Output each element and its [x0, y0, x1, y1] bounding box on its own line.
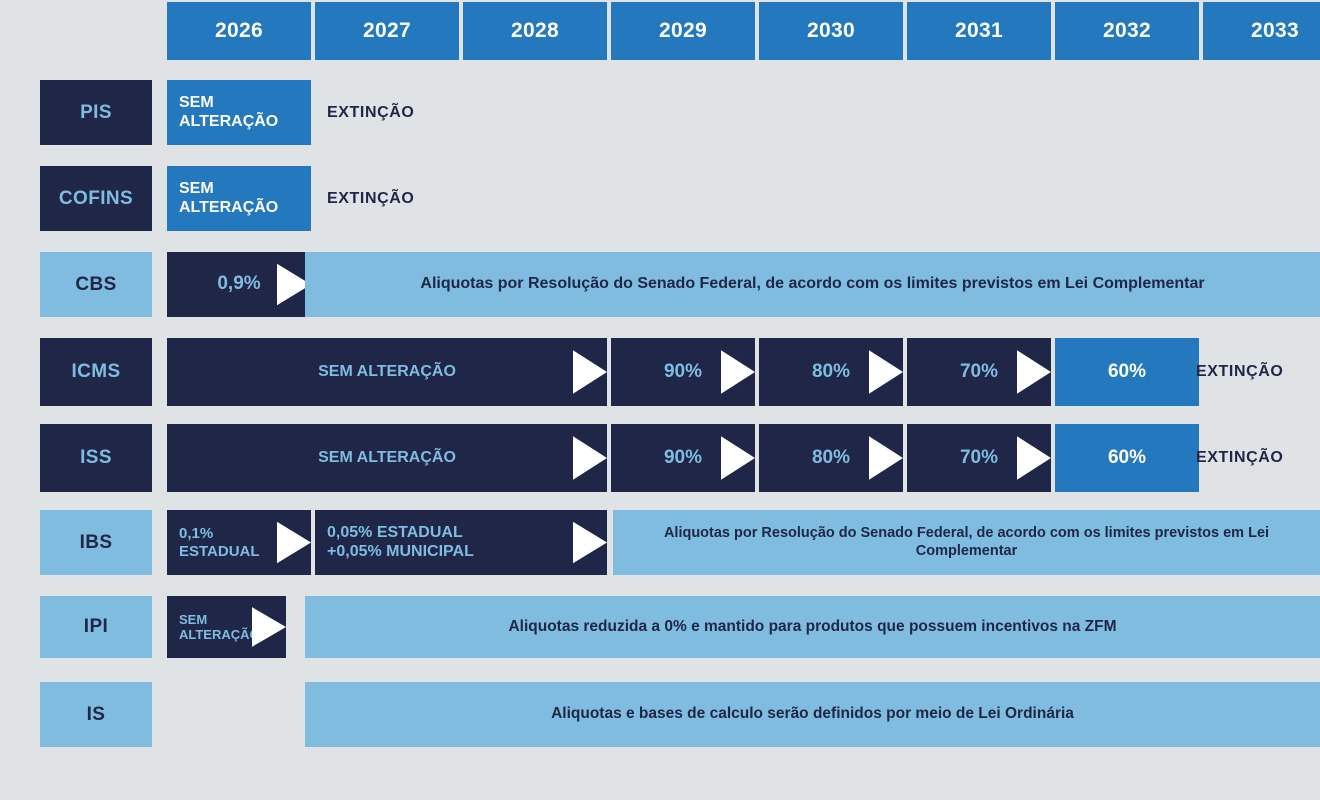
year-label: 2030: [807, 19, 855, 43]
cell-icms-1[interactable]: SEM ALTERAÇÃO: [167, 338, 607, 406]
arrow-right-icon: [721, 424, 755, 492]
cell-text: Aliquotas por Resolução do Senado Federa…: [420, 275, 1204, 294]
cell-iss-1[interactable]: SEM ALTERAÇÃO: [167, 424, 607, 492]
year-column-2030[interactable]: 2030: [759, 2, 903, 60]
cell-text: SEM ALTERAÇÃO: [179, 94, 278, 132]
year-column-2028[interactable]: 2028: [463, 2, 607, 60]
row-label-text: PIS: [80, 102, 112, 124]
year-label: 2033: [1251, 19, 1299, 43]
cell-text: SEM ALTERAÇÃO: [179, 612, 260, 643]
cell-ipi-1[interactable]: SEM ALTERAÇÃO: [167, 596, 286, 658]
row-label-cofins[interactable]: COFINS: [40, 166, 152, 231]
arrow-right-icon: [277, 510, 311, 575]
cell-icms-5[interactable]: 60%: [1055, 338, 1199, 406]
cell-icms-4[interactable]: 70%: [907, 338, 1051, 406]
row-label-text: IS: [87, 704, 106, 726]
cell-text: 0,1% ESTADUAL: [179, 525, 260, 560]
cell-cbs-1[interactable]: 0,9%: [167, 252, 311, 317]
status-text: EXTINÇÃO: [1196, 363, 1283, 381]
year-column-2031[interactable]: 2031: [907, 2, 1051, 60]
row-label-text: COFINS: [59, 188, 133, 210]
arrow-right-icon: [573, 510, 607, 575]
cell-iss-4[interactable]: 70%: [907, 424, 1051, 492]
cell-ibs-1[interactable]: 0,1% ESTADUAL: [167, 510, 311, 575]
cell-text: 70%: [960, 361, 998, 383]
row-label-text: IBS: [80, 532, 113, 554]
row-label-cbs[interactable]: CBS: [40, 252, 152, 317]
year-column-2026[interactable]: 2026: [167, 2, 311, 60]
cell-text: 80%: [812, 361, 850, 383]
cell-cofins-1[interactable]: SEM ALTERAÇÃO: [167, 166, 311, 231]
row-label-icms[interactable]: ICMS: [40, 338, 152, 406]
arrow-right-icon: [573, 424, 607, 492]
year-column-2033[interactable]: 2033: [1203, 2, 1320, 60]
cell-text: 70%: [960, 447, 998, 469]
cell-text: 80%: [812, 447, 850, 469]
status-text: EXTINÇÃO: [327, 190, 414, 208]
cell-text: SEM ALTERAÇÃO: [318, 363, 456, 382]
year-label: 2031: [955, 19, 1003, 43]
cell-text: 60%: [1108, 361, 1146, 383]
cell-text: Aliquotas por Resolução do Senado Federa…: [643, 525, 1290, 559]
extincao-label-cofins: EXTINÇÃO: [327, 166, 414, 231]
year-label: 2027: [363, 19, 411, 43]
cell-ibs-2[interactable]: 0,05% ESTADUAL +0,05% MUNICIPAL: [315, 510, 607, 575]
extincao-label-iss: EXTINÇÃO: [1196, 424, 1283, 492]
cell-iss-2[interactable]: 90%: [611, 424, 755, 492]
year-column-2027[interactable]: 2027: [315, 2, 459, 60]
row-label-ipi[interactable]: IPI: [40, 596, 152, 658]
cell-text: Aliquotas reduzida a 0% e mantido para p…: [508, 618, 1116, 636]
cell-ibs-3[interactable]: Aliquotas por Resolução do Senado Federa…: [613, 510, 1320, 575]
year-label: 2032: [1103, 19, 1151, 43]
cell-icms-2[interactable]: 90%: [611, 338, 755, 406]
row-label-text: IPI: [84, 616, 108, 638]
arrow-right-icon: [573, 338, 607, 406]
year-column-2032[interactable]: 2032: [1055, 2, 1199, 60]
timeline-board: 20262027202820292030203120322033 PISSEM …: [0, 0, 1320, 800]
arrow-right-icon: [1017, 424, 1051, 492]
year-column-2029[interactable]: 2029: [611, 2, 755, 60]
row-label-iss[interactable]: ISS: [40, 424, 152, 492]
arrow-right-icon: [721, 338, 755, 406]
row-label-is[interactable]: IS: [40, 682, 152, 747]
cell-text: 90%: [664, 447, 702, 469]
cell-text: SEM ALTERAÇÃO: [318, 449, 456, 468]
extincao-label-icms: EXTINÇÃO: [1196, 338, 1283, 406]
status-text: EXTINÇÃO: [1196, 449, 1283, 467]
row-label-text: ICMS: [71, 361, 120, 383]
cell-iss-3[interactable]: 80%: [759, 424, 903, 492]
cell-text: 60%: [1108, 447, 1146, 469]
arrow-right-icon: [869, 338, 903, 406]
cell-iss-5[interactable]: 60%: [1055, 424, 1199, 492]
row-label-text: CBS: [75, 274, 116, 296]
cell-cbs-2[interactable]: Aliquotas por Resolução do Senado Federa…: [305, 252, 1320, 317]
cell-text: 90%: [664, 361, 702, 383]
row-label-text: ISS: [80, 447, 112, 469]
year-label: 2028: [511, 19, 559, 43]
year-label: 2029: [659, 19, 707, 43]
cell-is-1[interactable]: Aliquotas e bases de calculo serão defin…: [305, 682, 1320, 747]
arrow-right-icon: [1017, 338, 1051, 406]
cell-icms-3[interactable]: 80%: [759, 338, 903, 406]
cell-text: SEM ALTERAÇÃO: [179, 180, 278, 218]
arrow-right-icon: [869, 424, 903, 492]
extincao-label-pis: EXTINÇÃO: [327, 80, 414, 145]
row-label-ibs[interactable]: IBS: [40, 510, 152, 575]
cell-text: Aliquotas e bases de calculo serão defin…: [551, 705, 1074, 723]
cell-text: 0,05% ESTADUAL +0,05% MUNICIPAL: [327, 524, 474, 562]
row-label-pis[interactable]: PIS: [40, 80, 152, 145]
cell-pis-1[interactable]: SEM ALTERAÇÃO: [167, 80, 311, 145]
status-text: EXTINÇÃO: [327, 104, 414, 122]
year-label: 2026: [215, 19, 263, 43]
cell-ipi-2[interactable]: Aliquotas reduzida a 0% e mantido para p…: [305, 596, 1320, 658]
cell-text: 0,9%: [217, 273, 260, 295]
